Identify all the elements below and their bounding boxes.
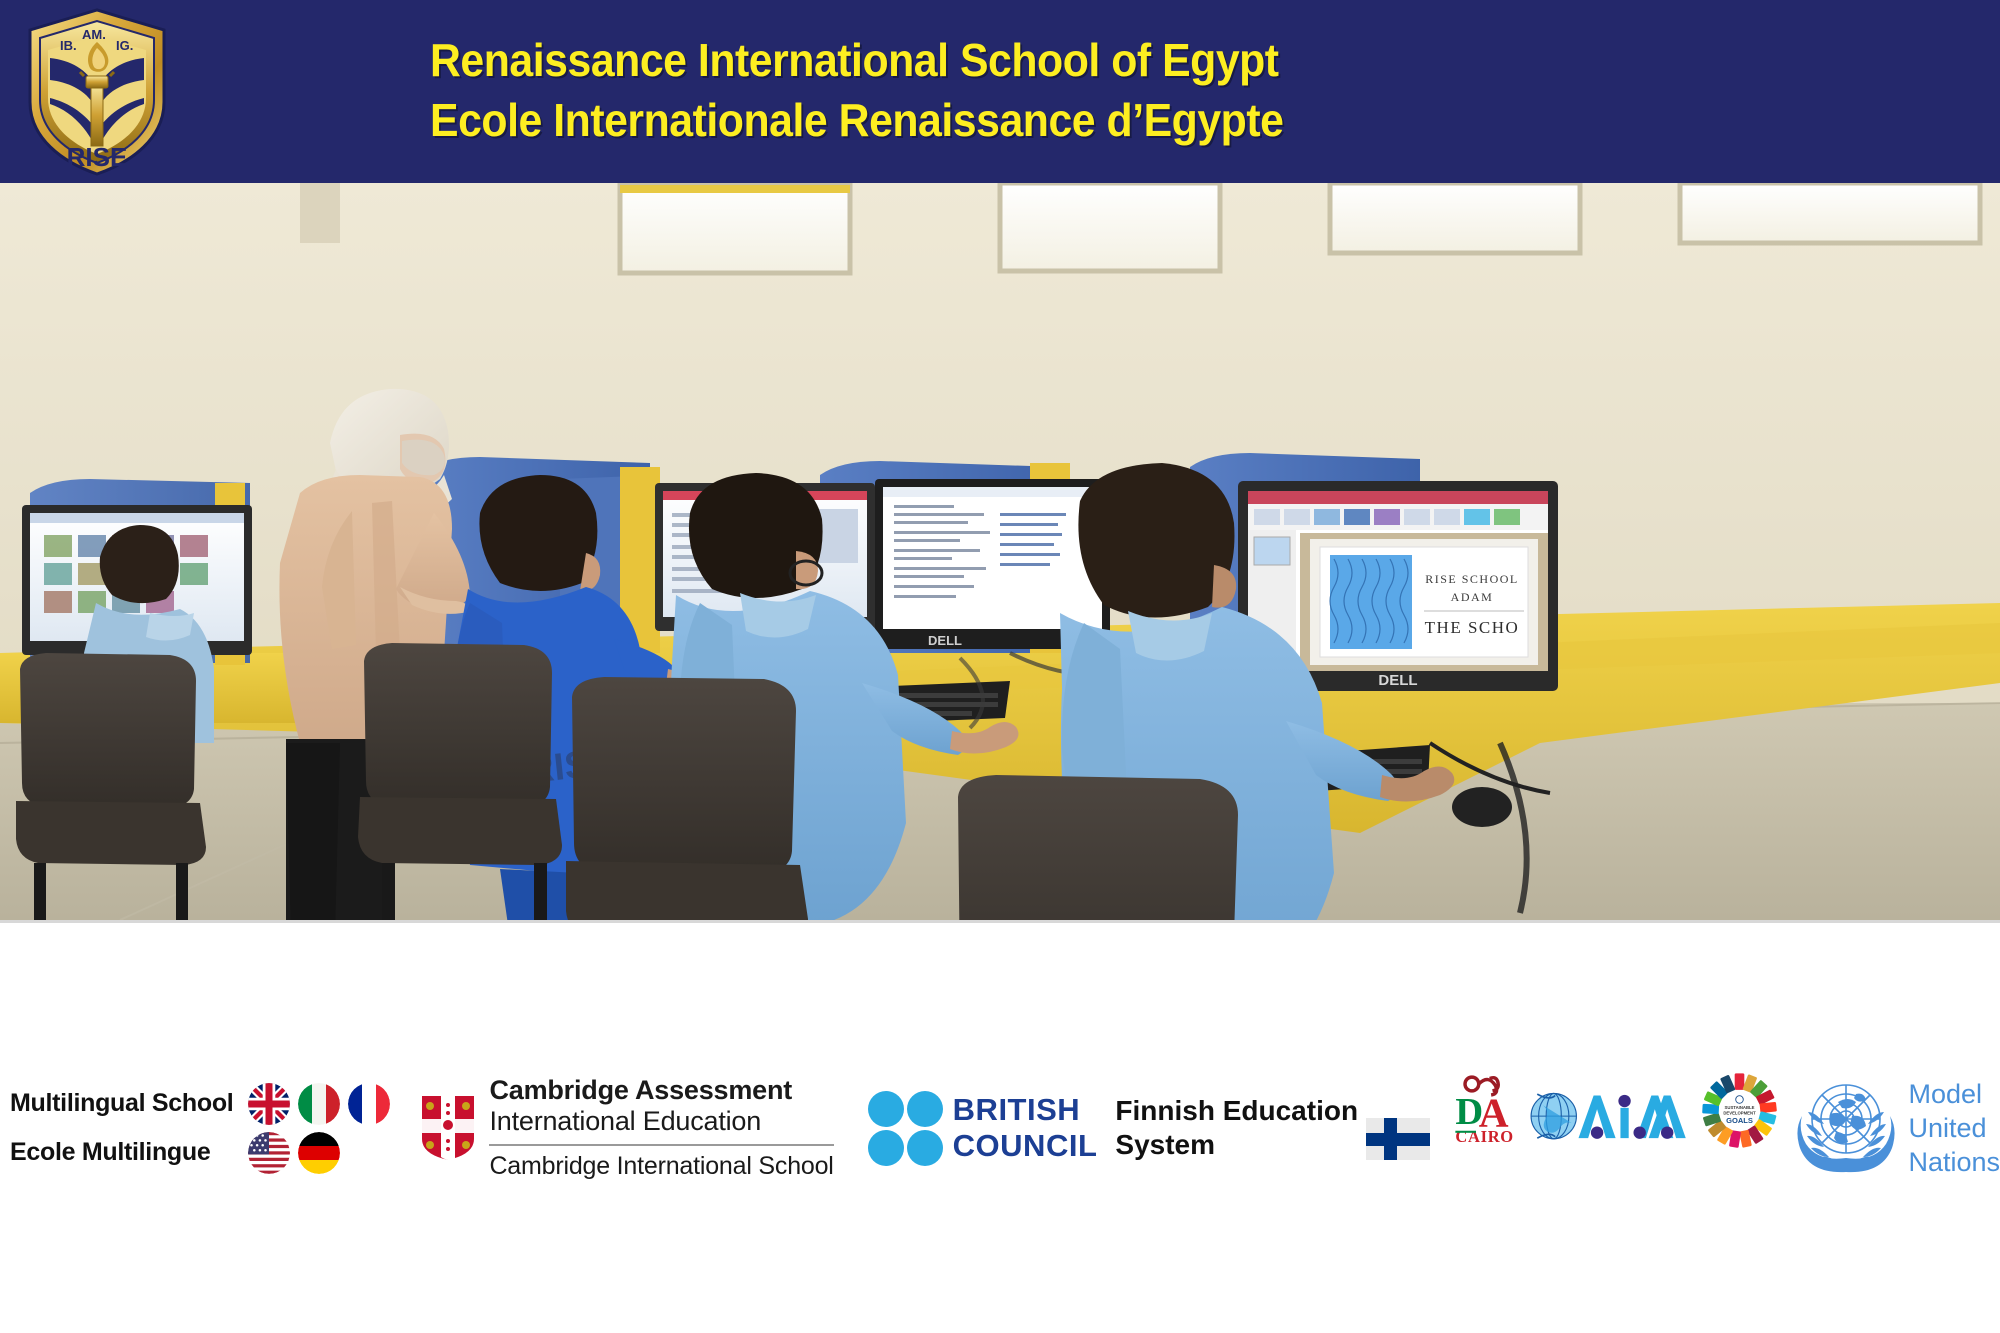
- flag-finland-icon: [1366, 1118, 1430, 1160]
- cambridge-line2: International Education: [489, 1106, 833, 1137]
- model-united-nations-group: Model United Nations: [1790, 1072, 2000, 1184]
- crest-abbr-top: AM.: [82, 27, 106, 42]
- flag-france-icon: [348, 1083, 390, 1125]
- cambridge-rule: [489, 1144, 833, 1146]
- flag-germany-icon: [298, 1132, 340, 1174]
- british-council-group: BRITISH COUNCIL: [868, 1091, 1098, 1166]
- chair: [950, 775, 1254, 920]
- crest-abbr-right: IG.: [116, 38, 133, 53]
- crest-wordmark: RISE: [67, 142, 128, 172]
- finnish-line2: System: [1115, 1128, 1358, 1162]
- finnish-education-group: Finnish Education System: [1115, 1094, 1430, 1162]
- finnish-line1: Finnish Education: [1115, 1094, 1358, 1128]
- sdg-line3: GOALS: [1727, 1116, 1754, 1125]
- aiaa-logo: [1529, 1090, 1687, 1166]
- page-title-en: Renaissance International School of Egyp…: [430, 30, 1639, 90]
- multilingual-school-group: Multilingual School Ecole Multilingue: [10, 1082, 391, 1175]
- header-title-block: Renaissance International School of Egyp…: [430, 30, 1730, 150]
- mun-line2: United: [1908, 1111, 2000, 1145]
- british-council-dots-icon: [868, 1091, 943, 1166]
- mun-line3: Nations: [1908, 1145, 2000, 1179]
- cambridge-assessment-group: Cambridge Assessment International Educa…: [419, 1075, 833, 1181]
- da-cairo-city: CAIRO: [1455, 1127, 1513, 1146]
- slide-title-2: ADAM: [1451, 590, 1494, 604]
- page-title-fr: Ecole Internationale Renaissance d’Egypt…: [430, 90, 1639, 150]
- sdg-line1: SUSTAINABLE: [1725, 1105, 1755, 1110]
- da-cairo-logo: D A CAIRO: [1454, 1073, 1517, 1183]
- sdg-line2: DEVELOPMENT: [1724, 1111, 1757, 1116]
- cambridge-shield-icon: [419, 1093, 477, 1163]
- multilingual-school-label-en: Multilingual School: [10, 1089, 233, 1118]
- crest-abbr-left: IB.: [60, 38, 77, 53]
- slide-title-3: THE SCHO: [1425, 618, 1520, 637]
- flag-italy-icon: [298, 1083, 340, 1125]
- cambridge-line3: Cambridge International School: [489, 1152, 833, 1181]
- british-council-line2: COUNCIL: [953, 1128, 1098, 1164]
- rise-school-crest: IB. AM. IG. RISE: [22, 6, 172, 178]
- slide-title-1: RISE SCHOOL: [1425, 572, 1519, 586]
- poster-root: IB. AM. IG. RISE Renaissance Internation…: [0, 0, 2000, 1333]
- monitor-brand: DELL: [1378, 672, 1417, 689]
- mun-line1: Model: [1908, 1077, 2000, 1111]
- monitor-brand: DELL: [928, 633, 962, 648]
- accreditation-footer: Multilingual School Ecole Multilingue: [0, 920, 2000, 1333]
- flag-united-states-icon: [248, 1132, 290, 1174]
- header-banner: IB. AM. IG. RISE Renaissance Internation…: [0, 0, 2000, 183]
- united-nations-emblem-icon: [1790, 1072, 1902, 1184]
- flag-united-kingdom-icon: [248, 1083, 290, 1125]
- sustainable-development-goals-logo: SUSTAINABLE DEVELOPMENT GOALS: [1701, 1072, 1778, 1184]
- classroom-photo: DELL: [0, 183, 2000, 920]
- cambridge-line1: Cambridge Assessment: [489, 1075, 833, 1106]
- classroom-photo-illustration: DELL: [0, 183, 2000, 920]
- multilingual-school-label-fr: Ecole Multilingue: [10, 1138, 233, 1167]
- british-council-line1: BRITISH: [953, 1092, 1098, 1128]
- flag-group: [247, 1082, 391, 1175]
